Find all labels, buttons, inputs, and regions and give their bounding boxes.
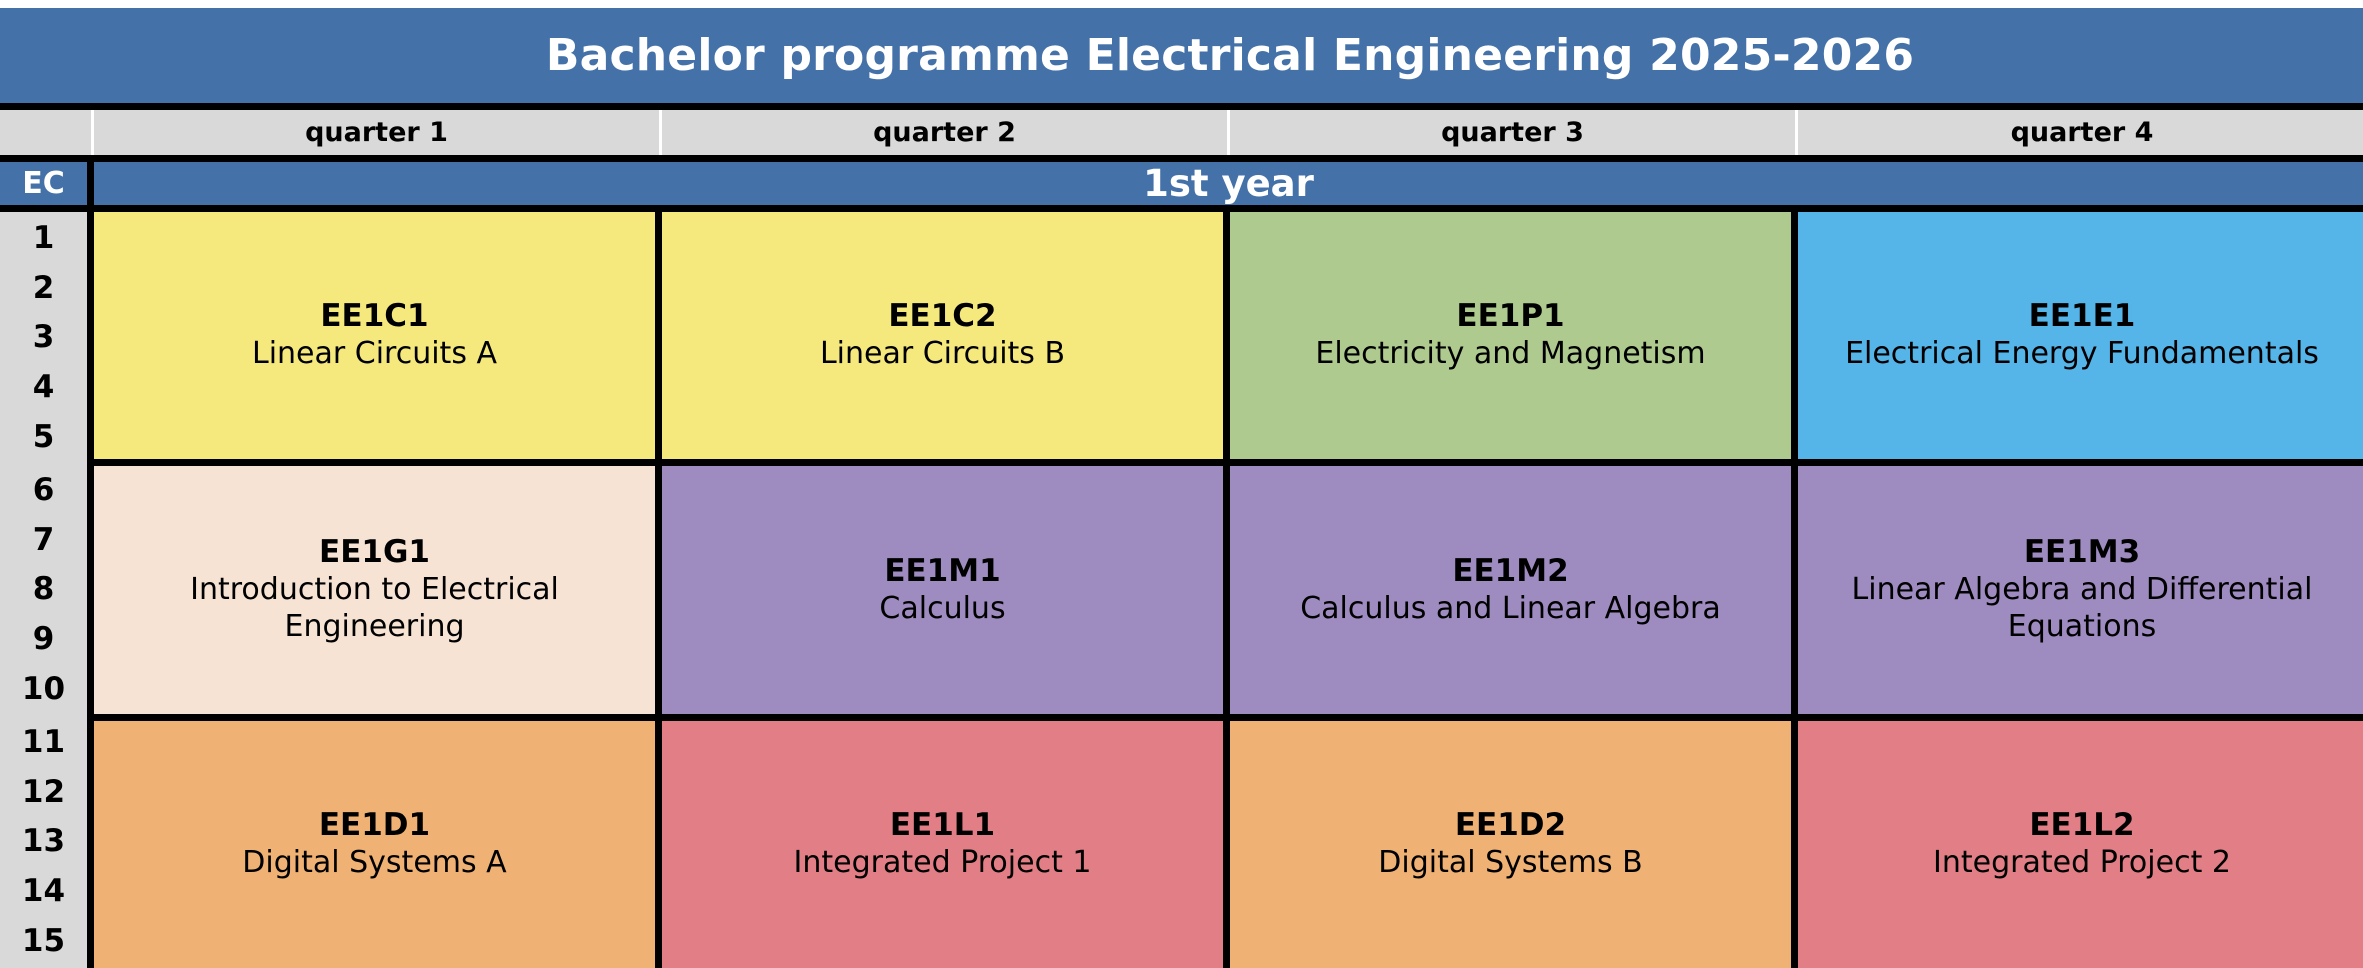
course-cell[interactable]: EE1C1 Linear Circuits A: [94, 212, 655, 466]
course-cell[interactable]: EE1E1 Electrical Energy Fundamentals: [1798, 212, 2363, 466]
quarter-header-q2: quarter 2: [662, 110, 1230, 155]
course-code: EE1G1: [319, 534, 430, 572]
course-name: Integrated Project 1: [794, 845, 1092, 882]
quarter-header-ec-spacer: [0, 110, 94, 155]
quarter-header-q4: quarter 4: [1798, 110, 2363, 155]
course-name: Calculus: [879, 591, 1005, 628]
course-name: Linear Circuits A: [252, 336, 497, 373]
ec-number: 7: [33, 525, 55, 556]
course-name: Electrical Energy Fundamentals: [1845, 336, 2319, 373]
course-cell[interactable]: EE1D1 Digital Systems A: [94, 721, 655, 968]
course-code: EE1C2: [888, 298, 996, 336]
course-code: EE1M2: [1452, 553, 1568, 591]
course-name: Calculus and Linear Algebra: [1300, 591, 1721, 628]
course-code: EE1D2: [1455, 807, 1566, 845]
ec-number: 4: [33, 372, 55, 403]
course-name: Integrated Project 2: [1933, 845, 2231, 882]
divider-under-year-band: [0, 205, 2363, 212]
ec-number: 8: [33, 574, 55, 605]
course-cell[interactable]: EE1M1 Calculus: [662, 466, 1223, 720]
ec-number: 13: [22, 826, 65, 857]
ec-group-2: 6 7 8 9 10: [0, 464, 87, 716]
course-code: EE1D1: [319, 807, 430, 845]
course-code: EE1P1: [1456, 298, 1564, 336]
ec-number: 14: [22, 876, 65, 907]
quarter-column-1: EE1C1 Linear Circuits A EE1G1 Introducti…: [94, 212, 662, 968]
quarter-column-4: EE1E1 Electrical Energy Fundamentals EE1…: [1798, 212, 2363, 968]
course-name: Digital Systems A: [242, 845, 506, 882]
ec-number: 9: [33, 624, 55, 655]
course-code: EE1L2: [2029, 807, 2134, 845]
ec-number: 3: [33, 322, 55, 353]
ec-group-1: 1 2 3 4 5: [0, 212, 87, 464]
course-name: Digital Systems B: [1378, 845, 1642, 882]
ec-number: 11: [22, 727, 65, 758]
course-name: Linear Algebra and Differential Equation…: [1804, 572, 2360, 645]
ec-number: 15: [22, 926, 65, 957]
course-code: EE1M3: [2024, 534, 2140, 572]
course-cell[interactable]: EE1C2 Linear Circuits B: [662, 212, 1223, 466]
course-cell[interactable]: EE1G1 Introduction to Electrical Enginee…: [94, 466, 655, 720]
year-label: 1st year: [94, 162, 2363, 205]
course-cell[interactable]: EE1L1 Integrated Project 1: [662, 721, 1223, 968]
course-cell[interactable]: EE1M2 Calculus and Linear Algebra: [1230, 466, 1791, 720]
course-code: EE1C1: [320, 298, 428, 336]
ec-number: 12: [22, 777, 65, 808]
course-code: EE1E1: [2029, 298, 2136, 336]
page-title: Bachelor programme Electrical Engineerin…: [449, 30, 1914, 81]
year-band-row: EC 1st year: [0, 162, 2363, 205]
study-programme-table: Bachelor programme Electrical Engineerin…: [0, 0, 2363, 968]
course-code: EE1M1: [884, 553, 1000, 591]
quarter-header-q1: quarter 1: [94, 110, 662, 155]
ec-number: 2: [33, 273, 55, 304]
ec-group-3: 11 12 13 14 15: [0, 716, 87, 968]
course-cell[interactable]: EE1M3 Linear Algebra and Differential Eq…: [1798, 466, 2363, 720]
divider-under-title: [0, 103, 2363, 110]
ec-number: 6: [33, 475, 55, 506]
course-cell[interactable]: EE1P1 Electricity and Magnetism: [1230, 212, 1791, 466]
course-cell[interactable]: EE1L2 Integrated Project 2: [1798, 721, 2363, 968]
course-name: Linear Circuits B: [820, 336, 1065, 373]
course-name: Electricity and Magnetism: [1315, 336, 1705, 373]
course-code: EE1L1: [890, 807, 995, 845]
course-name: Introduction to Electrical Engineering: [100, 572, 649, 645]
quarter-header-row: quarter 1 quarter 2 quarter 3 quarter 4: [0, 110, 2363, 155]
divider-under-quarter-header: [0, 155, 2363, 162]
ec-number: 1: [33, 223, 55, 254]
programme-title-band: Bachelor programme Electrical Engineerin…: [0, 8, 2363, 103]
quarter-column-3: EE1P1 Electricity and Magnetism EE1M2 Ca…: [1230, 212, 1798, 968]
course-cell[interactable]: EE1D2 Digital Systems B: [1230, 721, 1791, 968]
quarter-header-q3: quarter 3: [1230, 110, 1798, 155]
ec-column-header: EC: [0, 162, 94, 205]
course-grid: 1 2 3 4 5 6 7 8 9 10 11 12 13 14 15: [0, 212, 2363, 968]
ec-number: 10: [22, 674, 65, 705]
ec-credits-column: 1 2 3 4 5 6 7 8 9 10 11 12 13 14 15: [0, 212, 94, 968]
quarter-column-2: EE1C2 Linear Circuits B EE1M1 Calculus E…: [662, 212, 1230, 968]
quarter-columns: EE1C1 Linear Circuits A EE1G1 Introducti…: [94, 212, 2363, 968]
ec-number: 5: [33, 422, 55, 453]
